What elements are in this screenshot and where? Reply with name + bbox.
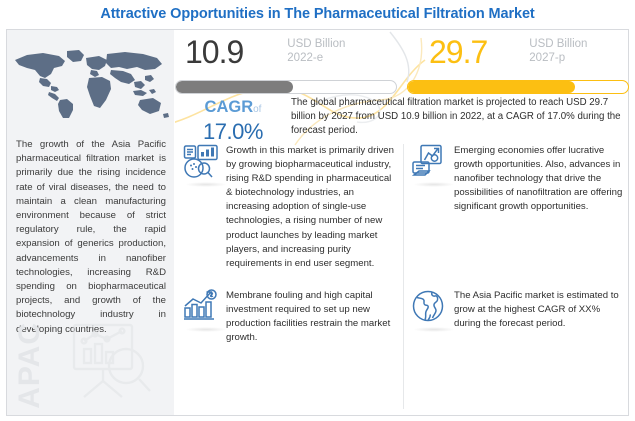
forecast-year-value: 29.7 <box>407 34 487 70</box>
page-title: Attractive Opportunities in The Pharmace… <box>100 6 534 22</box>
icon-shadow <box>185 327 227 332</box>
bar-chart-growth-icon <box>183 289 219 323</box>
presentation-growth-icon <box>411 144 447 178</box>
world-map-icon <box>7 48 174 120</box>
cagr-label: CAGRof <box>177 98 289 119</box>
card-opportunities: Emerging economies offer lucrative growt… <box>411 144 629 214</box>
base-year-progress-fill <box>176 81 293 93</box>
report-analysis-icon <box>183 144 219 178</box>
page-header: Attractive Opportunities in The Pharmace… <box>0 0 635 28</box>
forecast-year-progress-fill <box>408 81 575 93</box>
base-year-unit: USD Billion 2022-e <box>251 34 345 65</box>
apac-panel: The growth of the Asia Pacific pharmaceu… <box>7 30 174 415</box>
base-year-value: 10.9 <box>175 34 243 70</box>
cagr-block: CAGRof 17.0% <box>177 98 289 146</box>
market-summary-text: The global pharmaceutical filtration mar… <box>291 96 629 138</box>
forecast-year-progress-bar <box>407 80 629 94</box>
forecast-year-unit: USD Billion 2027-p <box>495 34 587 65</box>
base-year-progress-bar <box>175 80 397 94</box>
stat-forecast-year: 29.7 USD Billion 2027-p <box>407 34 629 96</box>
card-market-drivers-text: Growth in this market is primarily drive… <box>226 144 396 271</box>
icon-shadow <box>185 182 227 187</box>
card-opportunities-text: Emerging economies offer lucrative growt… <box>454 144 626 214</box>
apac-description: The growth of the Asia Pacific pharmaceu… <box>16 138 166 337</box>
chart-magnifier-icon <box>54 319 158 405</box>
card-restraints-text: Membrane fouling and high capital invest… <box>226 289 396 345</box>
highlight-cards: Growth in this market is primarily drive… <box>175 144 629 409</box>
stat-base-year: 10.9 USD Billion 2022-e <box>175 34 397 96</box>
icon-shadow <box>413 327 455 332</box>
card-market-drivers: Growth in this market is primarily drive… <box>183 144 399 271</box>
card-regional-insight-text: The Asia Pacific market is estimated to … <box>454 289 626 331</box>
content-area: 10.9 USD Billion 2022-e 29.7 USD Billion… <box>175 30 629 415</box>
icon-shadow <box>413 182 455 187</box>
card-restraints: Membrane fouling and high capital invest… <box>183 289 399 345</box>
card-regional-insight: The Asia Pacific market is estimated to … <box>411 289 629 331</box>
cagr-value: 17.0% <box>177 119 289 144</box>
cagr-label-suffix: of <box>253 104 261 115</box>
globe-icon <box>411 289 447 323</box>
market-size-stats: 10.9 USD Billion 2022-e 29.7 USD Billion… <box>175 34 629 96</box>
apac-watermark: APAC <box>15 322 45 409</box>
